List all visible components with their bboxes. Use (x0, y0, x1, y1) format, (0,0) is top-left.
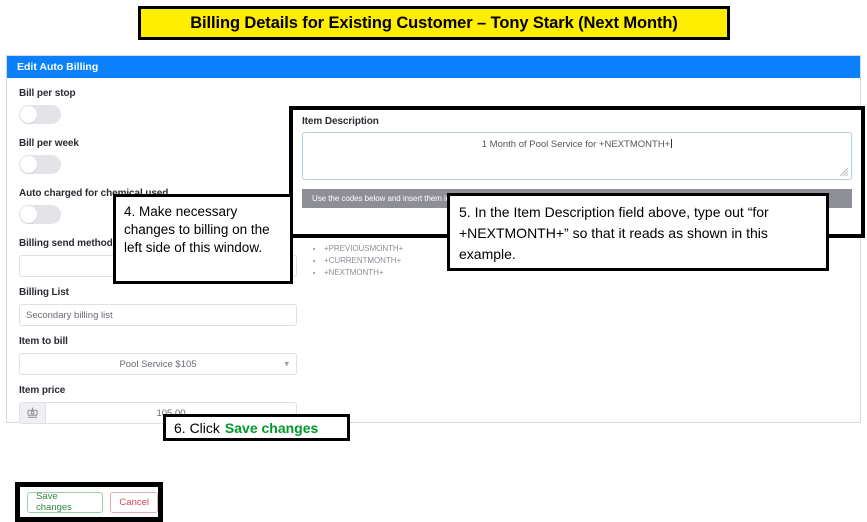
callout-step-4: 4. Make necessary changes to billing on … (113, 194, 293, 284)
toggle-knob (20, 206, 37, 223)
item-to-bill-select[interactable]: Pool Service $105 ▾ (19, 353, 297, 375)
bill-per-week-label: Bill per week (19, 138, 297, 149)
item-to-bill-label: Item to bill (19, 336, 297, 347)
callout-step-5: 5. In the Item Description field above, … (447, 193, 829, 271)
window-header: Edit Auto Billing (7, 56, 860, 78)
list-item: +PREVIOUSMONTH+ (324, 243, 403, 255)
save-changes-button[interactable]: Save changes (27, 492, 103, 513)
text-cursor (671, 139, 672, 148)
bill-per-stop-toggle[interactable] (19, 105, 61, 124)
currency-icon (19, 402, 45, 424)
item-description-textarea[interactable]: 1 Month of Pool Service for +NEXTMONTH+ (302, 132, 852, 180)
bill-per-stop-toggle-wrap (19, 105, 297, 124)
field-bill-per-stop: Bill per stop (19, 88, 297, 124)
month-code-list: +PREVIOUSMONTH+ +CURRENTMONTH+ +NEXTMONT… (310, 243, 403, 279)
footer-buttons-highlight: Save changes Cancel (15, 482, 163, 522)
bill-per-week-toggle[interactable] (19, 155, 61, 174)
callout-step-6: 6. Click Save changes (163, 414, 350, 441)
callout-step-6-action: Save changes (225, 420, 318, 436)
field-bill-per-week: Bill per week (19, 138, 297, 174)
item-price-label: Item price (19, 385, 297, 396)
billing-list-label: Billing List (19, 287, 297, 298)
resize-grip-icon[interactable] (839, 167, 849, 177)
callout-step-5-text: 5. In the Item Description field above, … (459, 204, 769, 262)
callout-step-6-prefix: 6. Click (174, 420, 220, 436)
page-title-banner: Billing Details for Existing Customer – … (138, 6, 730, 40)
toggle-knob (20, 156, 37, 173)
field-billing-list: Billing List Secondary billing list (19, 287, 297, 326)
field-item-to-bill: Item to bill Pool Service $105 ▾ (19, 336, 297, 375)
auto-charged-chemical-toggle[interactable] (19, 205, 61, 224)
item-description-label: Item Description (302, 116, 852, 127)
item-description-text-wrap: 1 Month of Pool Service for +NEXTMONTH+ (303, 139, 851, 150)
page-title: Billing Details for Existing Customer – … (190, 14, 678, 33)
list-item: +NEXTMONTH+ (324, 267, 403, 279)
callout-step-4-text: 4. Make necessary changes to billing on … (124, 204, 270, 255)
chevron-down-icon: ▾ (284, 360, 289, 369)
item-description-value: 1 Month of Pool Service for +NEXTMONTH+ (482, 139, 670, 150)
item-to-bill-value: Pool Service $105 (119, 359, 196, 370)
list-item: +CURRENTMONTH+ (324, 255, 403, 267)
bill-per-week-toggle-wrap (19, 155, 297, 174)
cancel-button[interactable]: Cancel (110, 492, 158, 513)
toggle-knob (20, 106, 37, 123)
billing-list-input[interactable]: Secondary billing list (19, 304, 297, 326)
bill-per-stop-label: Bill per stop (19, 88, 297, 99)
window-title: Edit Auto Billing (17, 61, 98, 73)
